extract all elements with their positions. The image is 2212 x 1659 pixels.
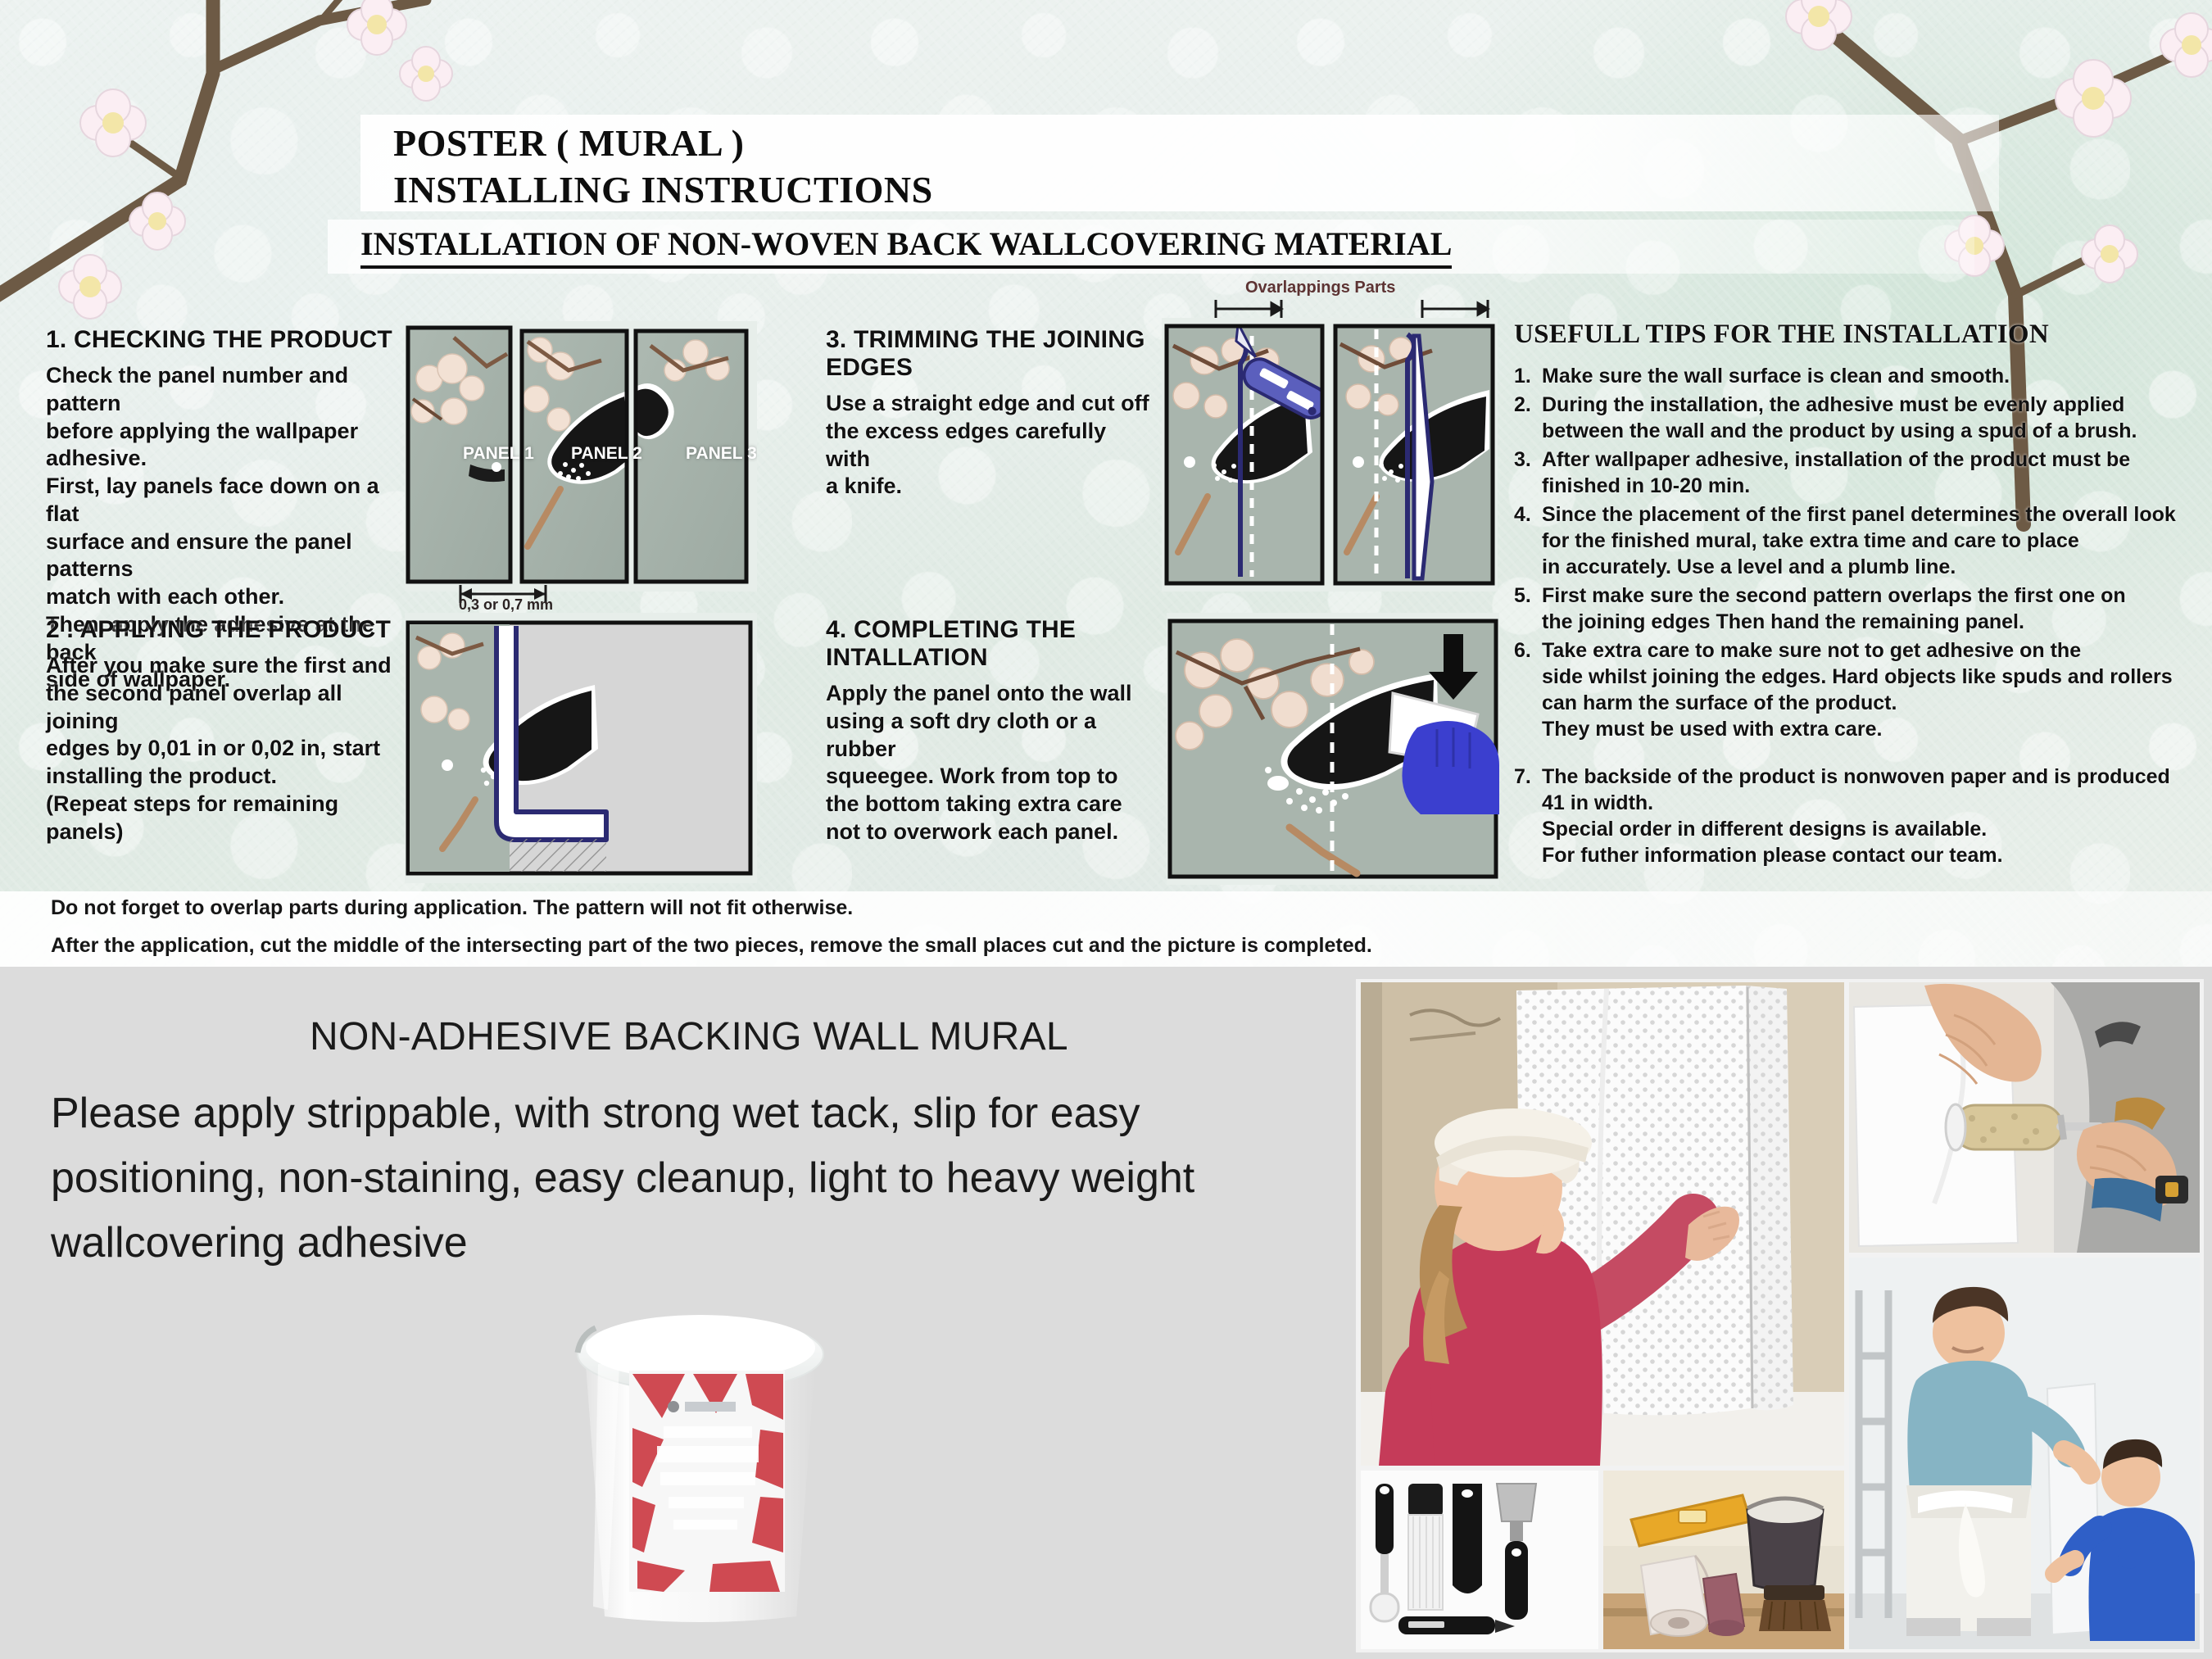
page-subtitle: INSTALLATION OF NON-WOVEN BACK WALLCOVER… [360,224,1452,269]
tip-text-7: The backside of the product is nonwoven … [1542,765,2170,867]
adhesive-bucket-photo [541,1282,860,1626]
wallpaper-supplies-photo [1603,1471,1844,1649]
page-title-line2: INSTALLING INSTRUCTIONS [393,168,933,211]
tips-section: USEFULL TIPS FOR THE INSTALLATION 1.Make… [1514,320,2194,871]
tip-number-2: 2. [1514,392,1531,418]
page-title-line1: POSTER ( MURAL ) [393,121,744,165]
tip-number-3: 3. [1514,446,1531,473]
step-4-heading: 4. COMPLETING THE INTALLATION [826,616,1154,672]
overlap-dimension-label: 0,3 or 0,7 mm [459,596,553,614]
panel-1-label: PANEL 1 [463,444,534,464]
step-4-block: 4. COMPLETING THE INTALLATION Apply the … [826,616,1154,846]
wallpaper-tool-set-photo [1361,1471,1598,1649]
step-4-body: Apply the panel onto the wall using a so… [826,680,1154,846]
photo-collage [1356,979,2204,1652]
diagram-three-panels: PANEL 1 PANEL 2 PANEL 3 [405,321,757,592]
tip-number-5: 5. [1514,582,1531,609]
footer-note-line-1: Do not forget to overlap parts during ap… [51,896,853,920]
tips-heading: USEFULL TIPS FOR THE INSTALLATION [1514,320,2194,350]
step-2-block: 2 . APPLYING THE PRODUCT After you make … [46,616,398,845]
tip-item-6: 6.Take extra care to make sure not to ge… [1514,637,2194,742]
tip-text-3: After wallpaper adhesive, installation o… [1542,448,2130,497]
tip-text-4: Since the placement of the first panel d… [1542,503,2176,578]
panel-2-label: PANEL 2 [571,444,642,464]
tip-number-1: 1. [1514,363,1531,389]
father-and-son-hanging-wallpaper-photo [1849,1258,2200,1649]
step-2-heading: 2 . APPLYING THE PRODUCT [46,616,398,644]
tip-number-4: 4. [1514,501,1531,528]
tip-item-3: 3.After wallpaper adhesive, installation… [1514,446,2194,499]
diagram-overlap-closeup [405,613,757,883]
tip-text-2: During the installation, the adhesive mu… [1542,393,2137,442]
step-2-body: After you make sure the first and the se… [46,652,398,845]
panel-3-label: PANEL 3 [686,444,757,464]
instruction-panel: POSTER ( MURAL ) INSTALLING INSTRUCTIONS… [0,0,2212,967]
overlapping-parts-label: Ovarlappings Parts [1245,279,1395,297]
tip-text-6: Take extra care to make sure not to get … [1542,639,2173,741]
diagram-trimming-edges [1162,318,1498,592]
tips-list: 1.Make sure the wall surface is clean an… [1514,363,2194,868]
tip-item-2: 2.During the installation, the adhesive … [1514,392,2194,444]
tip-number-7: 7. [1514,764,1531,790]
tip-item-4: 4.Since the placement of the first panel… [1514,501,2194,580]
bottom-body-text: Please apply strippable, with strong wet… [51,1081,1329,1276]
tip-number-6: 6. [1514,637,1531,664]
step-3-block: 3. TRIMMING THE JOINING EDGES Use a stra… [826,326,1154,501]
poster-page: POSTER ( MURAL ) INSTALLING INSTRUCTIONS… [0,0,2212,1659]
tip-text-1: Make sure the wall surface is clean and … [1542,365,2010,388]
tip-item-7: 7.The backside of the product is nonwove… [1514,764,2194,868]
diagram-completing-installation [1167,613,1499,885]
overlap-brackets-icon [1211,298,1494,320]
tip-item-5: 5.First make sure the second pattern ove… [1514,582,2194,635]
step-3-heading: 3. TRIMMING THE JOINING EDGES [826,326,1154,382]
step-1-heading: 1. CHECKING THE PRODUCT [46,326,398,354]
bottom-heading: NON-ADHESIVE BACKING WALL MURAL [310,1014,1068,1059]
tip-text-5: First make sure the second pattern overl… [1542,584,2126,633]
footer-note-line-2: After the application, cut the middle of… [51,934,1372,958]
tip-item-1: 1.Make sure the wall surface is clean an… [1514,363,2194,389]
paste-roller-photo [1849,982,2200,1253]
step-3-body: Use a straight edge and cut off the exce… [826,390,1154,501]
woman-applying-wallpaper-photo [1361,982,1844,1466]
